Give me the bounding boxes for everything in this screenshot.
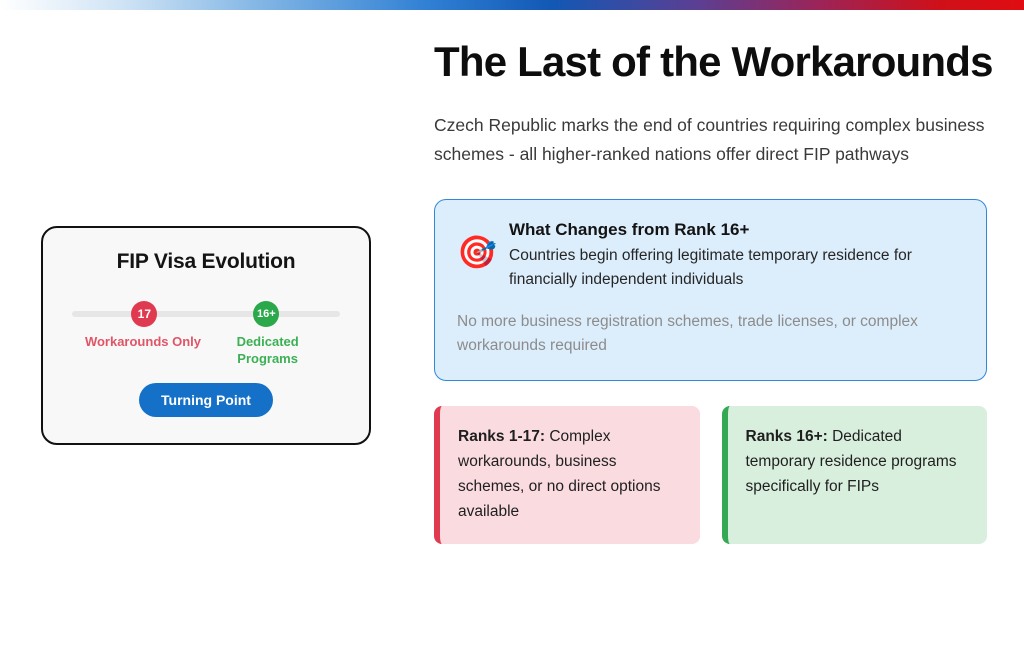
card-title: FIP Visa Evolution (69, 250, 343, 274)
slider-labels: Workarounds Only Dedicated Programs (69, 333, 343, 375)
left-column: FIP Visa Evolution 17 16+ Workarounds On… (0, 10, 412, 661)
page-root: FIP Visa Evolution 17 16+ Workarounds On… (0, 0, 1024, 661)
info-panel-top: 🎯 What Changes from Rank 16+ Countries b… (457, 220, 964, 292)
comparison-cards: Ranks 1-17: Complex workarounds, busines… (434, 406, 987, 544)
comparison-card-ranks-16plus: Ranks 16+: Dedicated temporary residence… (722, 406, 988, 544)
info-panel: 🎯 What Changes from Rank 16+ Countries b… (434, 199, 987, 381)
page-subtitle: Czech Republic marks the end of countrie… (434, 111, 986, 169)
target-dart-icon: 🎯 (457, 232, 501, 272)
comparison-card-label: Ranks 16+: (746, 428, 828, 445)
fip-visa-evolution-card: FIP Visa Evolution 17 16+ Workarounds On… (41, 226, 371, 445)
right-column: The Last of the Workarounds Czech Republ… (434, 10, 994, 544)
info-panel-text: What Changes from Rank 16+ Countries beg… (501, 220, 964, 292)
comparison-card-label: Ranks 1-17: (458, 428, 545, 445)
slider-label-dedicated-programs: Dedicated Programs (208, 333, 328, 367)
turning-point-button[interactable]: Turning Point (139, 383, 273, 417)
page-title: The Last of the Workarounds (434, 37, 994, 87)
slider-label-workarounds-only: Workarounds Only (83, 333, 203, 350)
rank-slider[interactable]: 17 16+ (72, 301, 340, 327)
gradient-accent-bar (0, 0, 1024, 10)
info-panel-note: No more business registration schemes, t… (457, 310, 964, 358)
slider-track[interactable] (72, 311, 340, 317)
info-panel-body: Countries begin offering legitimate temp… (509, 244, 964, 292)
info-panel-title: What Changes from Rank 16+ (509, 220, 964, 240)
slider-marker-rank-17[interactable]: 17 (131, 301, 157, 327)
slider-marker-rank-16plus[interactable]: 16+ (253, 301, 279, 327)
comparison-card-ranks-1-17: Ranks 1-17: Complex workarounds, busines… (434, 406, 700, 544)
